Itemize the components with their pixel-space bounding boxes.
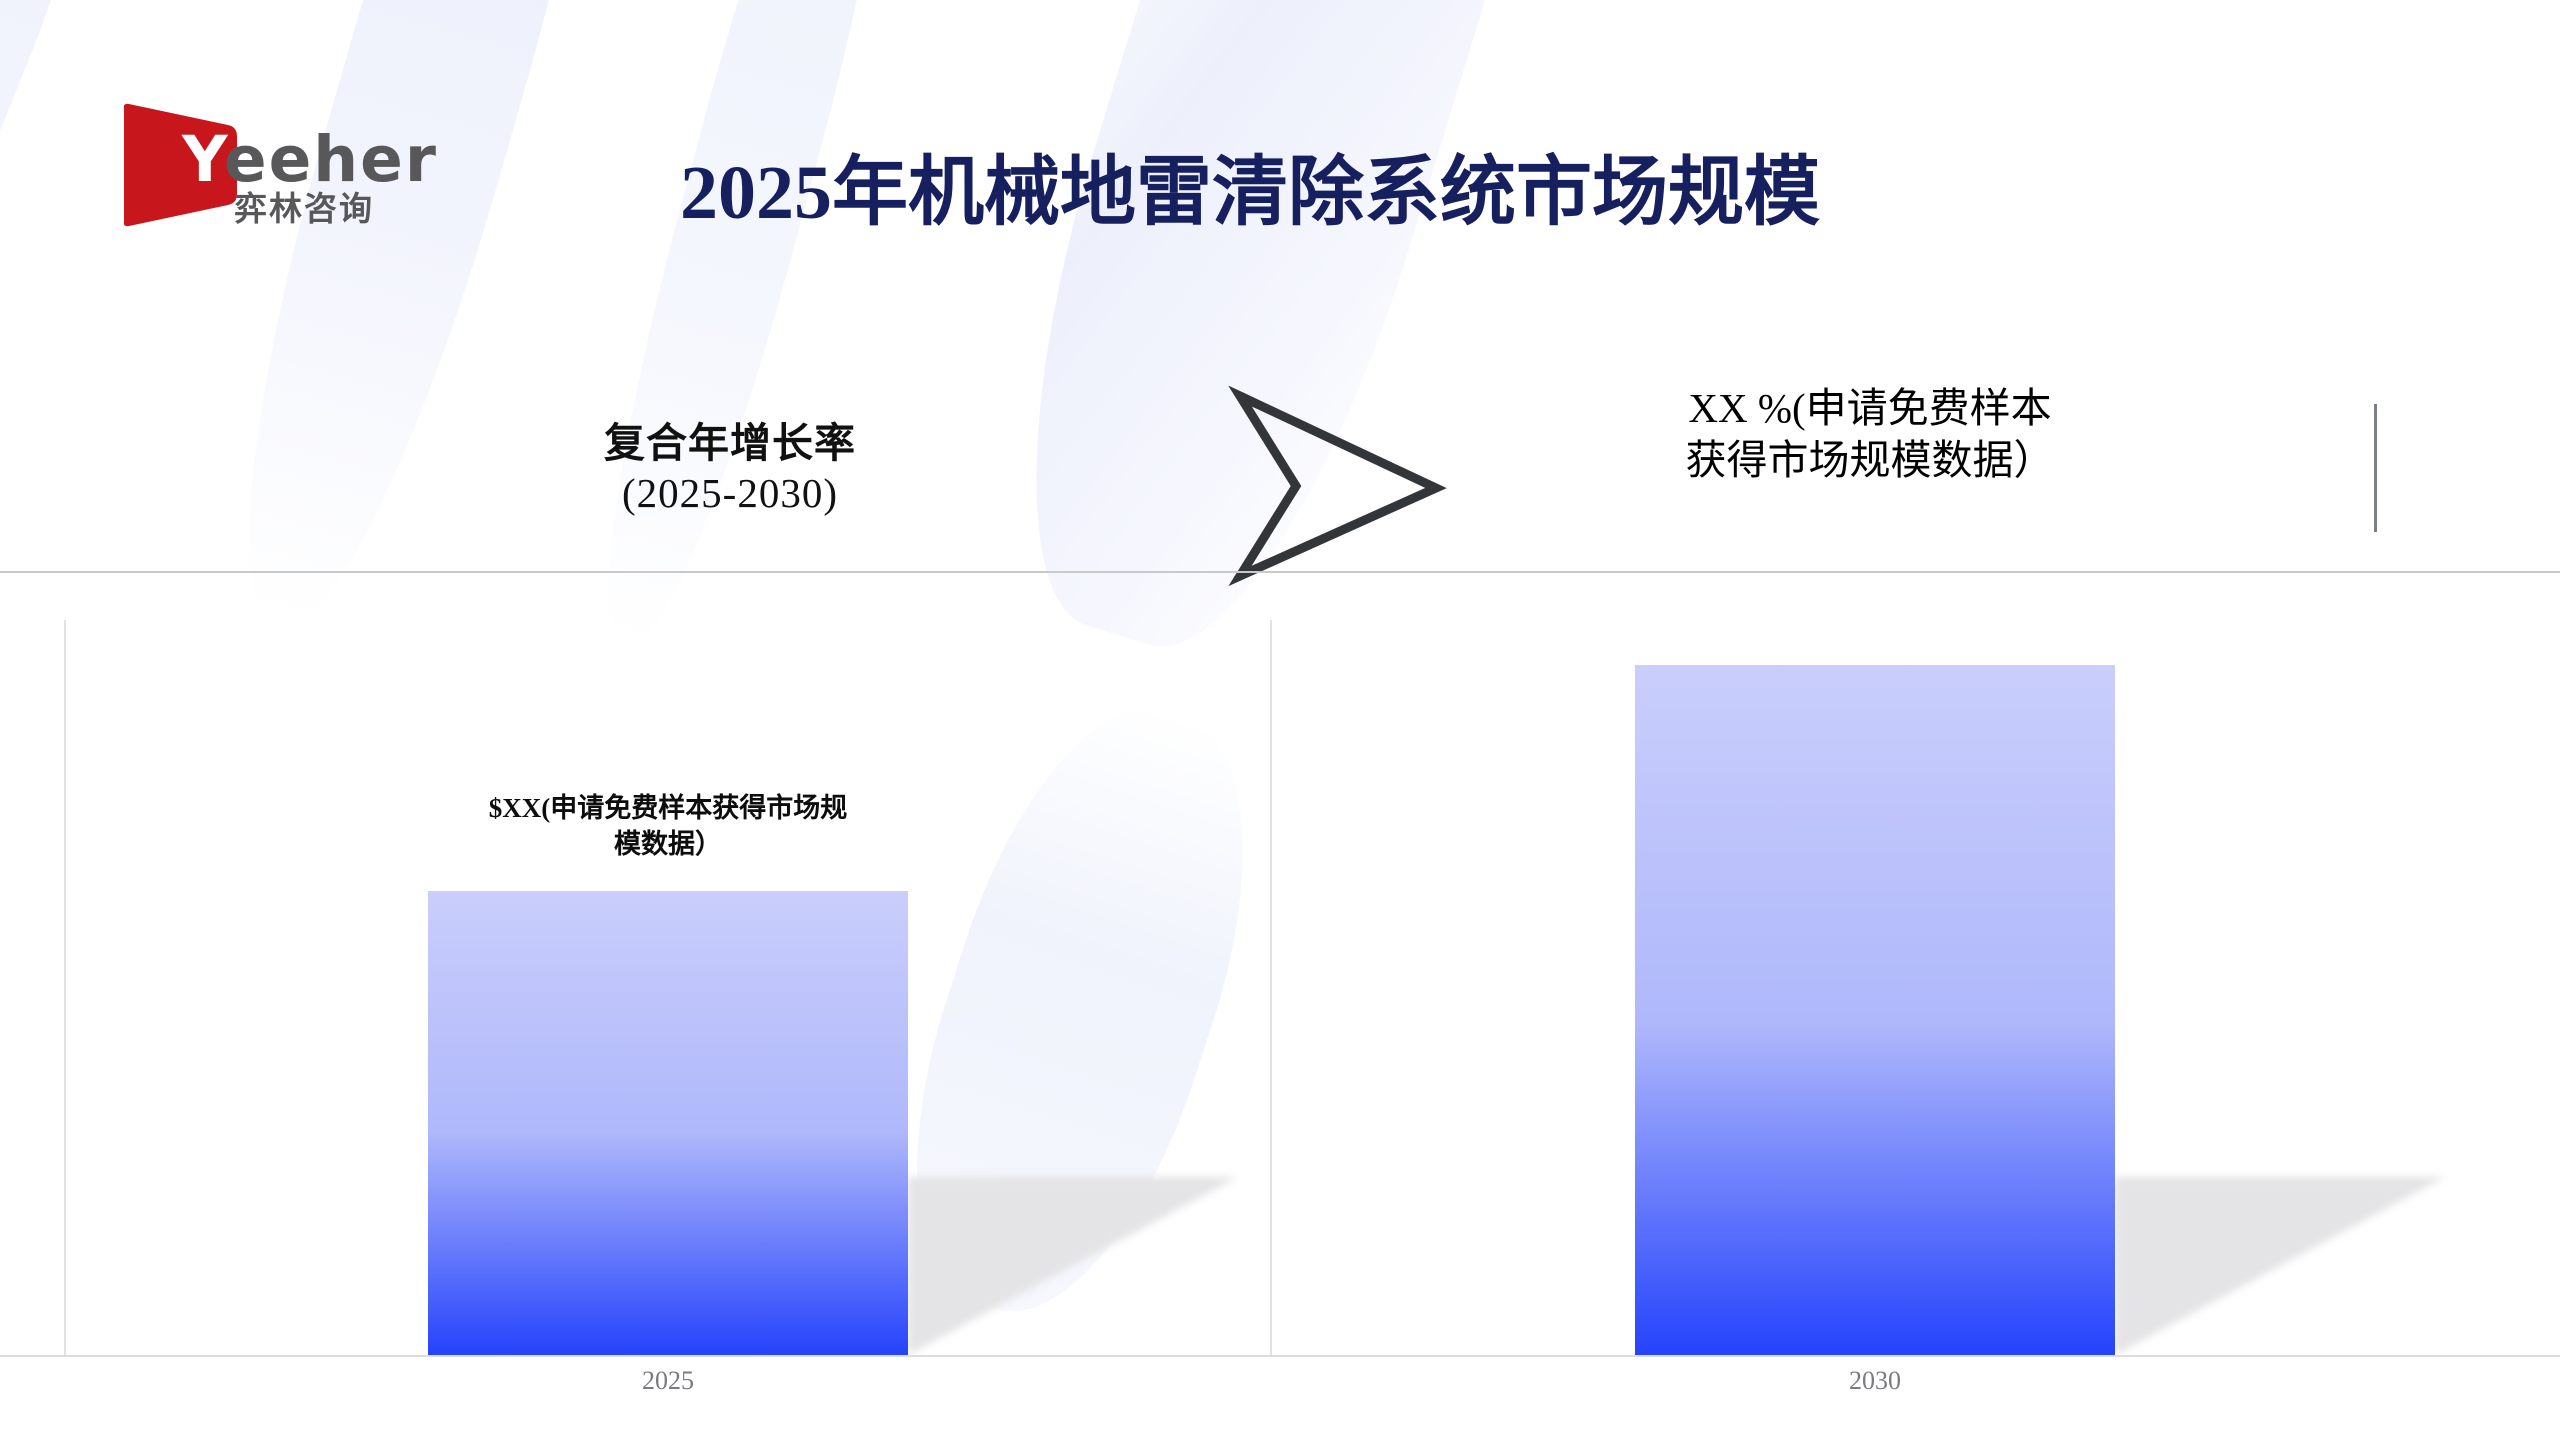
- cagr-label: 复合年增长率: [470, 418, 990, 468]
- header-horizontal-rule: [0, 571, 2560, 573]
- bar-2030[interactable]: [1635, 665, 2115, 1355]
- bar-value-label-2025: $XX(申请免费样本获得市场规 模数据）: [428, 790, 908, 863]
- logo-wordmark-rest: eeher: [224, 123, 438, 196]
- cagr-value-line-2: 获得市场规模数据）: [1610, 434, 2130, 486]
- x-tick-label-2030: 2030: [1635, 1366, 2115, 1396]
- cagr-value-line-1: XX %(申请免费样本: [1610, 382, 2130, 434]
- brand-logo: Yeeher 弈林咨询: [120, 100, 480, 240]
- header-vertical-rule: [2374, 404, 2377, 532]
- logo-wordmark-initial: Y: [182, 123, 224, 196]
- cagr-caption: 复合年增长率 (2025-2030): [470, 418, 990, 519]
- chart-baseline-axis: [0, 1355, 2560, 1357]
- ribbon-decor-3: [568, 0, 932, 659]
- logo-wordmark: Yeeher: [182, 128, 438, 191]
- bar-2025[interactable]: [428, 891, 908, 1355]
- bar-value-label-2025-line-2: 模数据）: [428, 826, 908, 862]
- slide-canvas: Yeeher 弈林咨询 2025年机械地雷清除系统市场规模 复合年增长率 (20…: [0, 0, 2560, 1440]
- chart-category-divider: [1270, 620, 1272, 1357]
- page-title: 2025年机械地雷清除系统市场规模: [560, 152, 1940, 234]
- right-arrow-outline-icon: [1228, 386, 1448, 586]
- logo-chinese-name: 弈林咨询: [234, 192, 374, 225]
- ribbon-decor-2: [192, 0, 657, 644]
- bar-fill-2030: [1635, 665, 2115, 1355]
- bar-fill-2025: [428, 891, 908, 1355]
- x-tick-label-2025: 2025: [428, 1366, 908, 1396]
- cagr-period: (2025-2030): [470, 468, 990, 519]
- cagr-value: XX %(申请免费样本 获得市场规模数据）: [1610, 382, 2130, 487]
- bar-value-label-2025-line-1: $XX(申请免费样本获得市场规: [428, 790, 908, 826]
